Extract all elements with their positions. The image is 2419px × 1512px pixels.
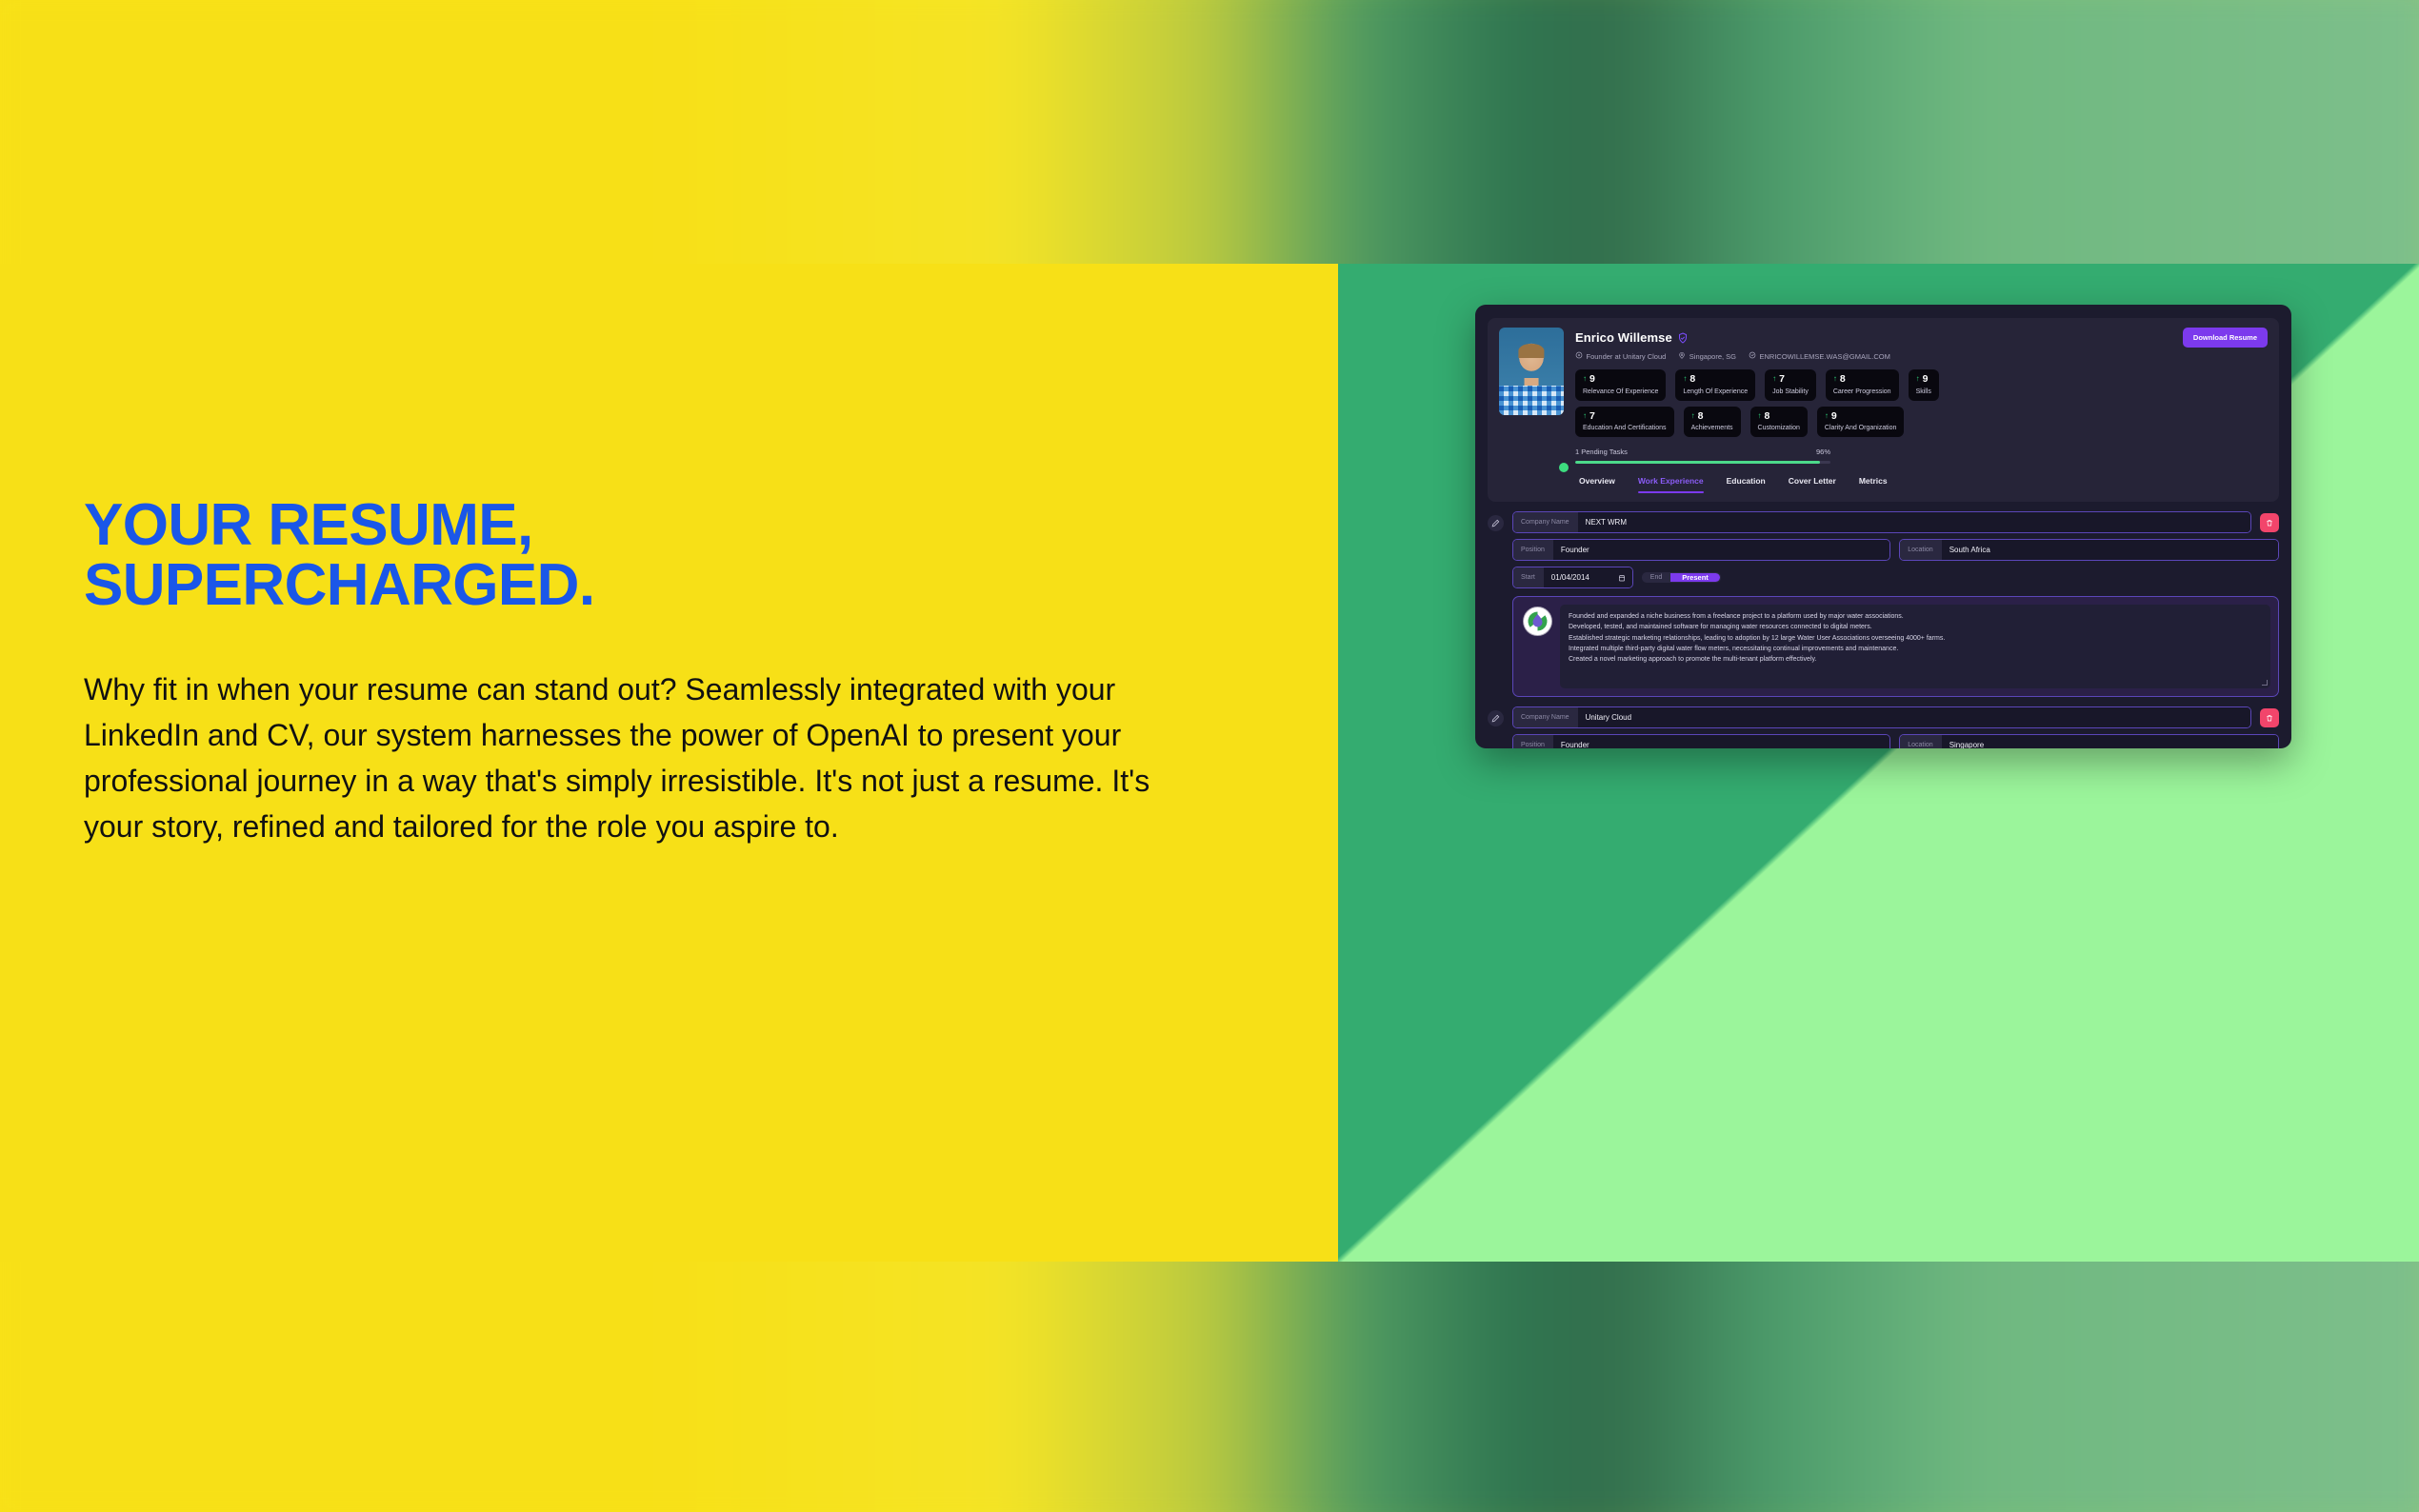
metric-card: ↑ 7 Job Stability [1765, 369, 1816, 401]
online-status-dot [1559, 463, 1569, 472]
metrics-grid: ↑ 9 Relevance Of Experience ↑ 8 Length O… [1575, 369, 2268, 437]
headline-line-1: YOUR RESUME, [84, 492, 533, 558]
company-name-label: Company Name [1513, 512, 1578, 532]
tab-work-experience[interactable]: Work Experience [1638, 476, 1704, 493]
pending-tasks-progress: 1 Pending Tasks 96% [1575, 448, 1830, 464]
trend-up-icon: ↑ [1825, 412, 1829, 420]
metric-card: ↑ 8 Career Progression [1826, 369, 1899, 401]
profile-role: Founder at Unitary Cloud [1575, 351, 1666, 361]
position-label: Position [1513, 735, 1553, 748]
company-name-input[interactable] [1578, 707, 2250, 727]
metric-label: Clarity And Organization [1825, 425, 1896, 431]
resize-handle[interactable] [2262, 680, 2268, 686]
location-field[interactable]: Location [1899, 734, 2279, 748]
metric-label: Skills [1916, 388, 1931, 395]
trend-up-icon: ↑ [1833, 375, 1837, 383]
trend-up-icon: ↑ [1691, 412, 1695, 420]
description-line: Created a novel marketing approach to pr… [1569, 654, 2262, 665]
page-title: YOUR RESUME, SUPERCHARGED. [84, 495, 1227, 615]
company-name-field[interactable]: Company Name [1512, 706, 2251, 728]
experience-entry: Company Name Position Location [1488, 706, 2279, 748]
location-field[interactable]: Location [1899, 539, 2279, 561]
description-line: Integrated multiple third-party digital … [1569, 644, 2262, 654]
metric-value: 9 [1923, 374, 1929, 385]
tab-bar: Overview Work Experience Education Cover… [1575, 476, 2268, 493]
experience-entry: Company Name Position Location [1488, 511, 2279, 697]
company-name-label: Company Name [1513, 707, 1578, 727]
metric-label: Length Of Experience [1683, 388, 1748, 395]
location-input[interactable] [1942, 540, 2278, 560]
metric-card: ↑ 9 Clarity And Organization [1817, 407, 1904, 438]
edit-pencil-icon[interactable] [1488, 515, 1504, 531]
end-date-label: End [1643, 573, 1670, 582]
position-input[interactable] [1553, 735, 1889, 748]
profile-email: ENRICOWILLEMSE.WAS@GMAIL.COM [1749, 351, 1890, 361]
position-field[interactable]: Position [1512, 539, 1890, 561]
map-pin-icon [1678, 351, 1686, 361]
calendar-icon[interactable] [1618, 567, 1632, 587]
marketing-body-text: Why fit in when your resume can stand ou… [84, 666, 1208, 849]
metrics-row-1: ↑ 9 Relevance Of Experience ↑ 8 Length O… [1575, 369, 2268, 401]
location-label: Location [1900, 735, 1941, 748]
progress-fill [1575, 461, 1820, 464]
present-toggle-button[interactable]: Present [1670, 573, 1720, 582]
company-name-input[interactable] [1578, 512, 2250, 532]
start-date-input[interactable] [1544, 567, 1618, 587]
description-line: Developed, tested, and maintained softwa… [1569, 622, 2262, 632]
metric-value: 7 [1589, 411, 1595, 422]
avatar-hair [1518, 344, 1544, 358]
metric-value: 8 [1765, 411, 1770, 422]
end-date-field[interactable]: End Present [1642, 572, 1721, 583]
metric-card: ↑ 9 Relevance Of Experience [1575, 369, 1666, 401]
metric-label: Relevance Of Experience [1583, 388, 1658, 395]
start-date-field[interactable]: Start [1512, 567, 1633, 588]
metric-value: 8 [1840, 374, 1846, 385]
delete-experience-button[interactable] [2260, 708, 2279, 727]
description-textarea[interactable]: Founded and expanded a niche business fr… [1560, 605, 2270, 688]
metric-label: Customization [1758, 425, 1800, 431]
headline-line-2: SUPERCHARGED. [84, 555, 1227, 615]
profile-role-text: Founder at Unitary Cloud [1587, 352, 1667, 361]
delete-experience-button[interactable] [2260, 513, 2279, 532]
verified-badge-icon [1677, 332, 1689, 344]
avatar [1499, 328, 1564, 493]
metric-card: ↑ 8 Achievements [1684, 407, 1741, 438]
mail-icon [1749, 351, 1756, 361]
profile-card: Enrico Willemse Download Resume [1488, 318, 2279, 502]
start-date-label: Start [1513, 567, 1544, 587]
location-label: Location [1900, 540, 1941, 560]
trend-up-icon: ↑ [1758, 412, 1762, 420]
metric-label: Education And Certifications [1583, 425, 1667, 431]
metric-label: Job Stability [1772, 388, 1809, 395]
description-line: Established strategic marketing relation… [1569, 633, 2262, 644]
profile-email-text: ENRICOWILLEMSE.WAS@GMAIL.COM [1760, 352, 1890, 361]
metric-card: ↑ 9 Skills [1909, 369, 1939, 401]
position-field[interactable]: Position [1512, 734, 1890, 748]
trend-up-icon: ↑ [1683, 375, 1687, 383]
marketing-copy: YOUR RESUME, SUPERCHARGED. Why fit in wh… [84, 495, 1227, 849]
edit-pencil-icon[interactable] [1488, 710, 1504, 726]
description-line: Founded and expanded a niche business fr… [1569, 611, 2262, 622]
metric-label: Career Progression [1833, 388, 1891, 395]
tab-cover-letter[interactable]: Cover Letter [1789, 476, 1836, 493]
download-resume-button[interactable]: Download Resume [2183, 328, 2268, 348]
metric-card: ↑ 8 Customization [1750, 407, 1808, 438]
tab-metrics[interactable]: Metrics [1859, 476, 1888, 493]
app-window: Enrico Willemse Download Resume [1475, 305, 2291, 748]
avatar-photo [1499, 328, 1564, 415]
company-name-field[interactable]: Company Name [1512, 511, 2251, 533]
position-input[interactable] [1553, 540, 1889, 560]
metric-card: ↑ 7 Education And Certifications [1575, 407, 1674, 438]
progress-percent-label: 96% [1816, 448, 1830, 456]
trend-up-icon: ↑ [1772, 375, 1776, 383]
metric-card: ↑ 8 Length Of Experience [1675, 369, 1755, 401]
metric-value: 8 [1698, 411, 1704, 422]
avatar-shirt [1499, 386, 1564, 415]
position-label: Position [1513, 540, 1553, 560]
profile-meta: Founder at Unitary Cloud Singapore, SG [1575, 351, 2268, 361]
tab-education[interactable]: Education [1727, 476, 1766, 493]
metric-value: 9 [1831, 411, 1837, 422]
trend-up-icon: ↑ [1583, 375, 1587, 383]
metric-value: 9 [1589, 374, 1595, 385]
profile-location: Singapore, SG [1678, 351, 1736, 361]
water-drop-logo-icon [1524, 607, 1551, 635]
metric-value: 8 [1689, 374, 1695, 385]
progress-track [1575, 461, 1830, 464]
trend-up-icon: ↑ [1916, 375, 1920, 383]
briefcase-icon [1575, 351, 1583, 361]
pending-tasks-label: 1 Pending Tasks [1575, 448, 1628, 456]
location-input[interactable] [1942, 735, 2278, 748]
description-panel: Founded and expanded a niche business fr… [1512, 596, 2279, 697]
metric-label: Achievements [1691, 425, 1733, 431]
profile-name: Enrico Willemse [1575, 330, 1672, 345]
metrics-row-2: ↑ 7 Education And Certifications ↑ 8 Ach… [1575, 407, 2268, 438]
metric-value: 7 [1779, 374, 1785, 385]
trend-up-icon: ↑ [1583, 412, 1587, 420]
tab-overview[interactable]: Overview [1579, 476, 1615, 493]
profile-location-text: Singapore, SG [1689, 352, 1736, 361]
